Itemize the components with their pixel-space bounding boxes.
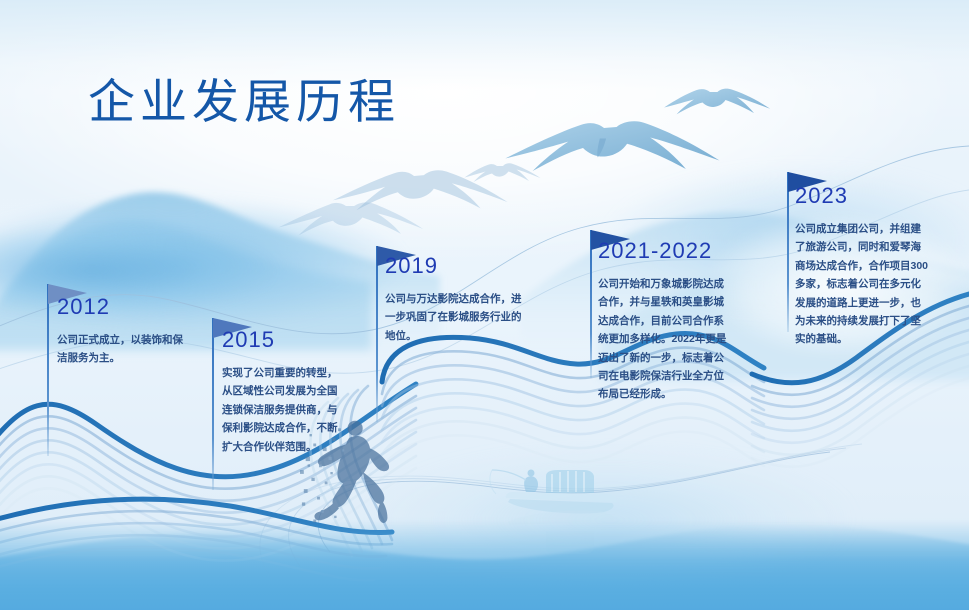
milestone-year: 2015 bbox=[222, 329, 372, 351]
milestone-desc: 公司与万达影院达成合作，进一步巩固了在影城服务行业的地位。 bbox=[385, 290, 531, 345]
wash-bottom-2 bbox=[0, 556, 969, 610]
flagpole-2019 bbox=[376, 246, 378, 422]
milestone-2015[interactable]: 2015 实现了公司重要的转型，从区域性公司发展为全国连锁保洁服务提供商，与保利… bbox=[222, 329, 372, 456]
milestone-2012[interactable]: 2012 公司正式成立，以装饰和保洁服务为主。 bbox=[57, 296, 207, 368]
page-title: 企业发展历程 bbox=[88, 63, 400, 132]
milestone-2021-2022[interactable]: 2021-2022 公司开始和万象城影院达成合作，并与星轶和英皇影城达成合作，目… bbox=[598, 240, 758, 404]
milestone-year: 2019 bbox=[385, 255, 555, 277]
milestone-year: 2021-2022 bbox=[598, 240, 758, 262]
milestone-2023[interactable]: 2023 公司成立集团公司，并组建了旅游公司，同时和爱琴海商场达成合作，合作项目… bbox=[795, 185, 963, 349]
milestone-year: 2023 bbox=[795, 185, 963, 207]
milestone-2019[interactable]: 2019 公司与万达影院达成合作，进一步巩固了在影城服务行业的地位。 bbox=[385, 255, 555, 345]
milestone-desc: 公司正式成立，以装饰和保洁服务为主。 bbox=[57, 331, 185, 368]
milestone-desc: 实现了公司重要的转型，从区域性公司发展为全国连锁保洁服务提供商，与保利影院达成合… bbox=[222, 364, 344, 456]
milestone-year: 2012 bbox=[57, 296, 207, 318]
milestone-desc: 公司开始和万象城影院达成合作，并与星轶和英皇影城达成合作，目前公司合作系统更加多… bbox=[598, 275, 730, 404]
infographic-canvas: 企业发展历程 2012 公司正式成立，以装饰和保洁服务为主。 2015 实现了公… bbox=[0, 0, 969, 610]
milestone-desc: 公司成立集团公司，并组建了旅游公司，同时和爱琴海商场达成合作，合作项目300多家… bbox=[795, 220, 931, 349]
